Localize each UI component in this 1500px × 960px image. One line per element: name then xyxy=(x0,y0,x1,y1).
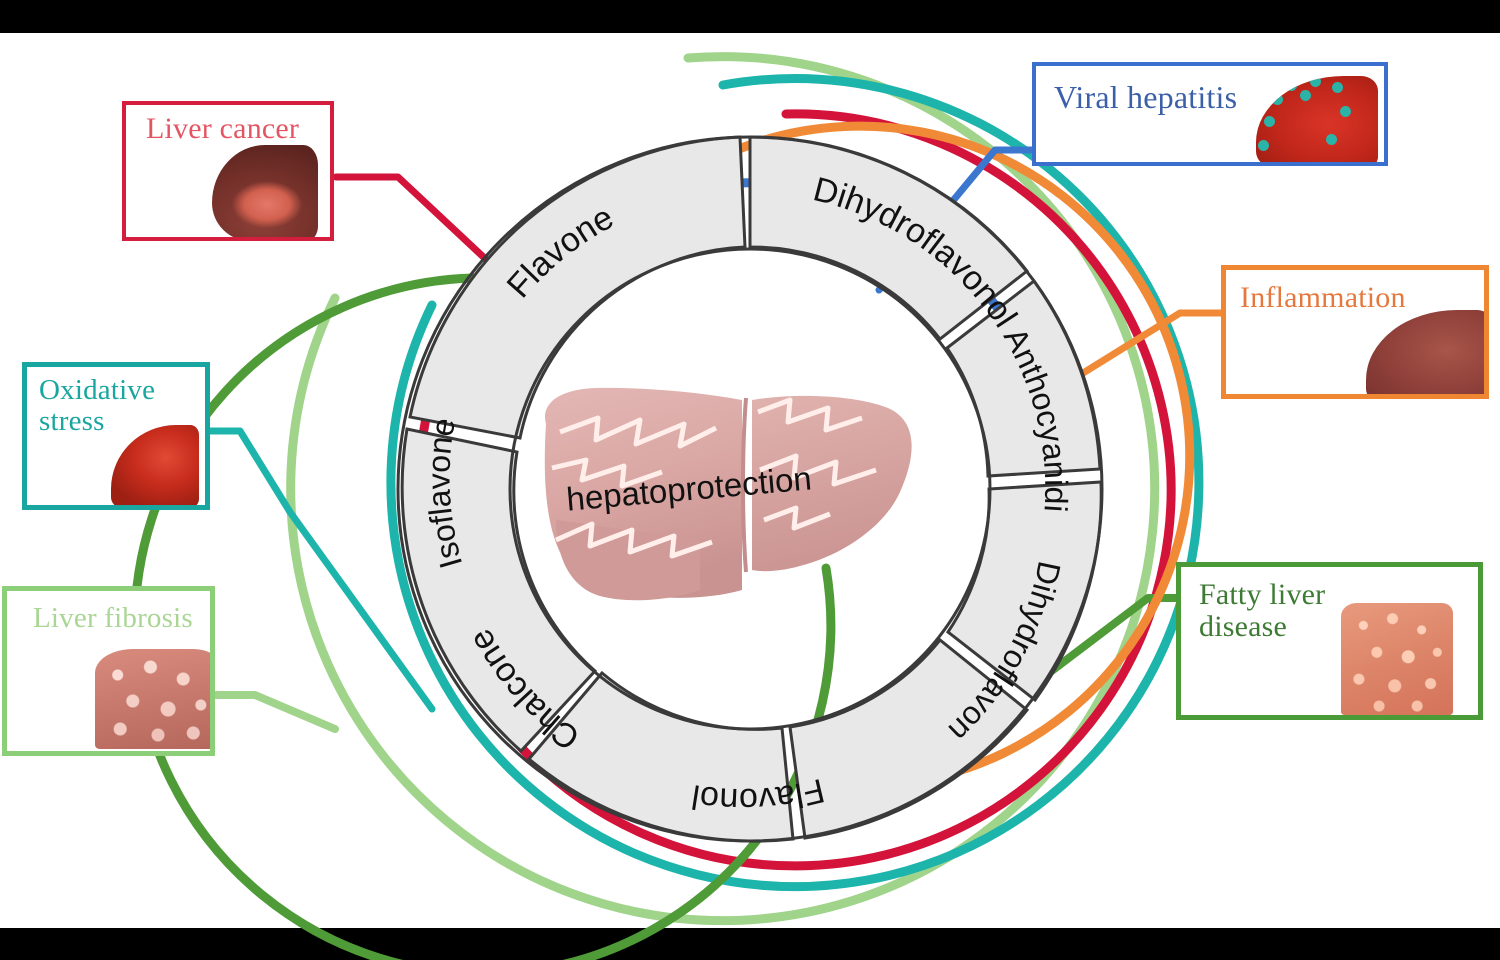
callout-oxidative-stress[interactable]: Oxidative stress xyxy=(22,362,210,510)
fibrotic-tissue-photo xyxy=(95,649,215,749)
callout-fatty-liver-disease[interactable]: Fatty liver disease xyxy=(1176,562,1483,720)
callout-inflammation[interactable]: Inflammation xyxy=(1221,265,1489,399)
callout-liver-cancer[interactable]: Liver cancer xyxy=(122,101,334,241)
callout-viral-hepatitis[interactable]: Viral hepatitis xyxy=(1032,62,1388,166)
callout-label-viral-hepatitis: Viral hepatitis xyxy=(1054,80,1237,115)
steatotic-tissue-photo xyxy=(1341,603,1453,715)
callout-label-inflammation: Inflammation xyxy=(1240,282,1406,314)
liver-tumor-photo xyxy=(212,145,318,241)
callout-label-liver-cancer: Liver cancer xyxy=(146,113,299,145)
connector-liver-cancer xyxy=(336,177,493,266)
virus-particle-photo xyxy=(1256,76,1378,166)
diagram-stage: Dihydroflavonol Anthocyanidin Dihydrofla… xyxy=(0,0,1500,960)
callout-liver-fibrosis[interactable]: Liver fibrosis xyxy=(2,586,215,756)
connector-liver-fibrosis xyxy=(212,695,335,729)
callout-label-fatty-liver-disease: Fatty liver disease xyxy=(1199,579,1325,644)
callout-label-liver-fibrosis: Liver fibrosis xyxy=(33,603,193,634)
inflamed-liver-photo xyxy=(1366,310,1489,399)
callout-label-oxidative-stress: Oxidative stress xyxy=(39,375,155,438)
